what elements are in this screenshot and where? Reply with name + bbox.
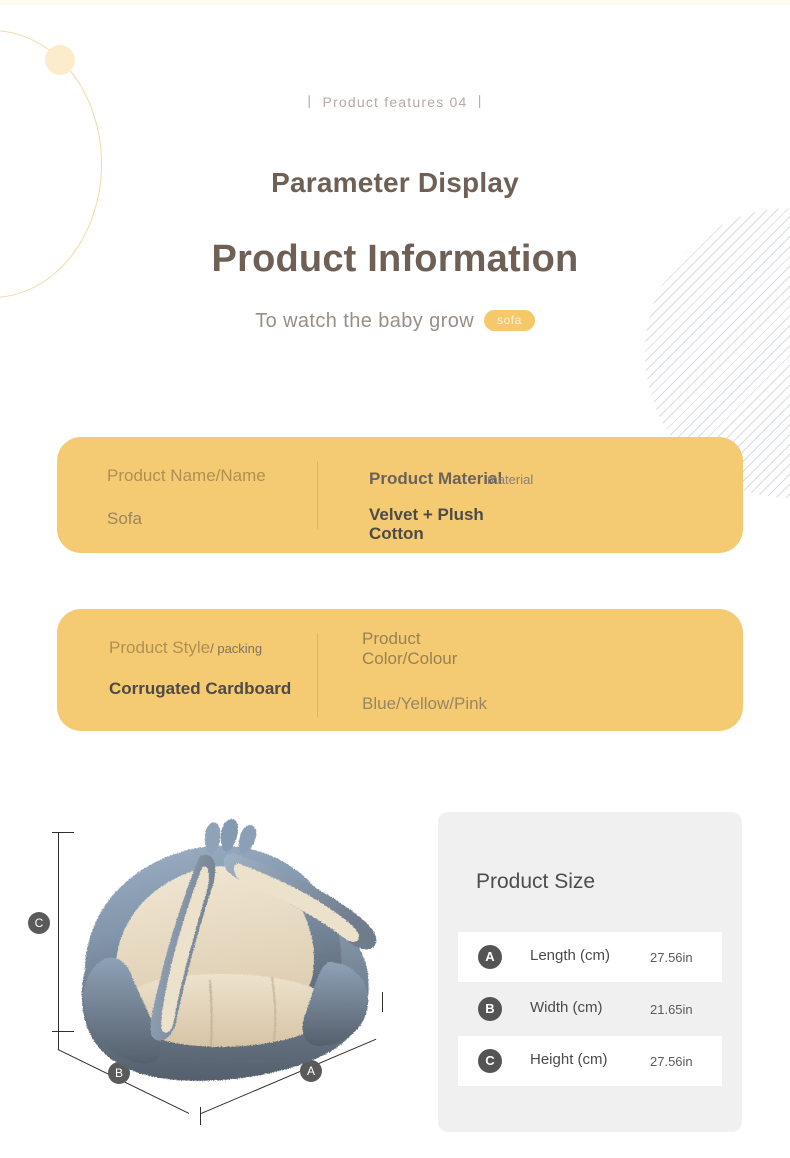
table-row: C Height (cm) 27.56in [458,1036,722,1086]
parameter-label: Product Style/ packing [109,637,319,659]
size-value-length: 27.56in [650,950,693,965]
parameter-cell-product-style: Product Style/ packing Corrugated Cardbo… [109,637,319,698]
parameter-label: Product Material [369,469,502,488]
sofa-illustration-svg [60,812,400,1102]
parameter-cell-product-color: Product Color/Colour Blue/Yellow/Pink [362,629,642,714]
status-badge: sofa [484,310,535,331]
parameter-cell-product-material: Product Material material Velvet + Plush… [369,468,669,543]
parameter-label-sub: / packing [210,641,262,656]
tagline: To watch the baby growsofa [0,310,790,333]
table-row: B Width (cm) 21.65in [458,984,722,1034]
dimension-line-height [58,832,59,1032]
size-marker-a: A [478,945,502,969]
tagline-text: To watch the baby grow [255,310,474,332]
size-marker-b: B [478,997,502,1021]
product-photo-with-dimensions: C B A [20,812,420,1132]
parameter-label: Product Color/Colour [362,629,492,669]
size-value-width: 21.65in [650,1002,693,1017]
size-label-height: Height (cm) [530,1051,608,1068]
table-row: A Length (cm) 27.56in [458,932,722,982]
parameter-value: Corrugated Cardboard [109,679,319,698]
product-image-sofa [60,812,400,1092]
parameter-value: Blue/Yellow/Pink [362,693,642,714]
parameter-label-overlay: material [487,472,533,487]
parameter-cell-product-name: Product Name/Name Sofa [107,465,307,529]
page-title: Parameter Display [0,167,790,199]
decorative-dot [45,45,75,75]
top-accent-band [0,0,790,5]
parameter-card-1: Product Name/Name Sofa Product Material … [57,437,743,553]
size-label-width: Width (cm) [530,999,603,1016]
parameter-label-main: Product Style [109,638,210,657]
parameter-label: Product Name/Name [107,465,307,486]
product-size-panel: Product Size A Length (cm) 27.56in B Wid… [438,812,742,1132]
product-size-title: Product Size [476,870,595,894]
page-subtitle: Product Information [0,238,790,281]
parameter-value: Sofa [107,508,307,529]
parameter-card-2: Product Style/ packing Corrugated Cardbo… [57,609,743,731]
dimension-tick-b [58,1032,59,1050]
size-marker-c: C [478,1049,502,1073]
parameter-value: Velvet + Plush Cotton [369,505,519,543]
dimension-marker-c: C [28,912,50,934]
section-eyebrow: 丨 Product features 04 丨 [0,92,790,112]
card-divider [317,461,318,529]
dimension-tick-a [200,1107,201,1125]
size-value-height: 27.56in [650,1054,693,1069]
size-label-length: Length (cm) [530,947,610,964]
